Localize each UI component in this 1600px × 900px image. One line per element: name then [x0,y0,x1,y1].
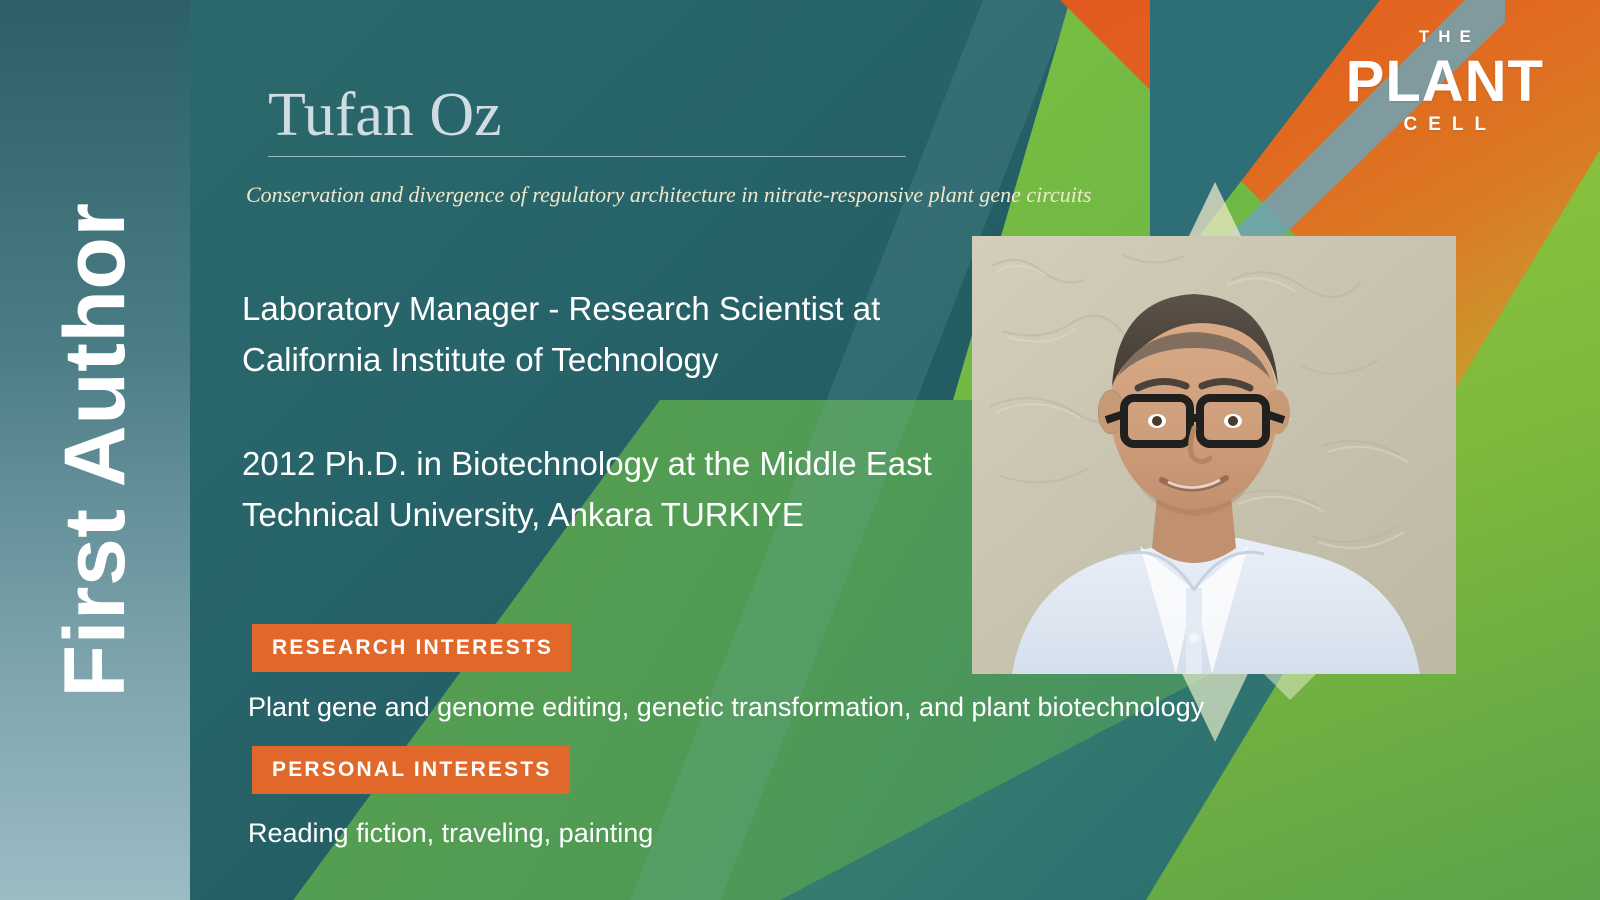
sidebar: First Author [0,0,190,900]
name-divider [268,156,906,157]
poster-canvas: First Author THE PLANT CELL Tufan Oz Con… [0,0,1600,900]
portrait-illustration [972,236,1456,674]
personal-interests-badge: PERSONAL INTERESTS [252,746,570,794]
author-name: Tufan Oz [268,84,502,146]
author-affiliation: Laboratory Manager - Research Scientist … [242,283,982,385]
research-interests-text: Plant gene and genome editing, genetic t… [248,690,1204,725]
sidebar-title: First Author [52,203,138,698]
paper-title: Conservation and divergence of regulator… [246,178,1146,212]
personal-interests-text: Reading fiction, traveling, painting [248,816,653,851]
author-education: 2012 Ph.D. in Biotechnology at the Middl… [242,438,982,540]
research-interests-badge: RESEARCH INTERESTS [252,624,571,672]
author-portrait [972,236,1456,674]
